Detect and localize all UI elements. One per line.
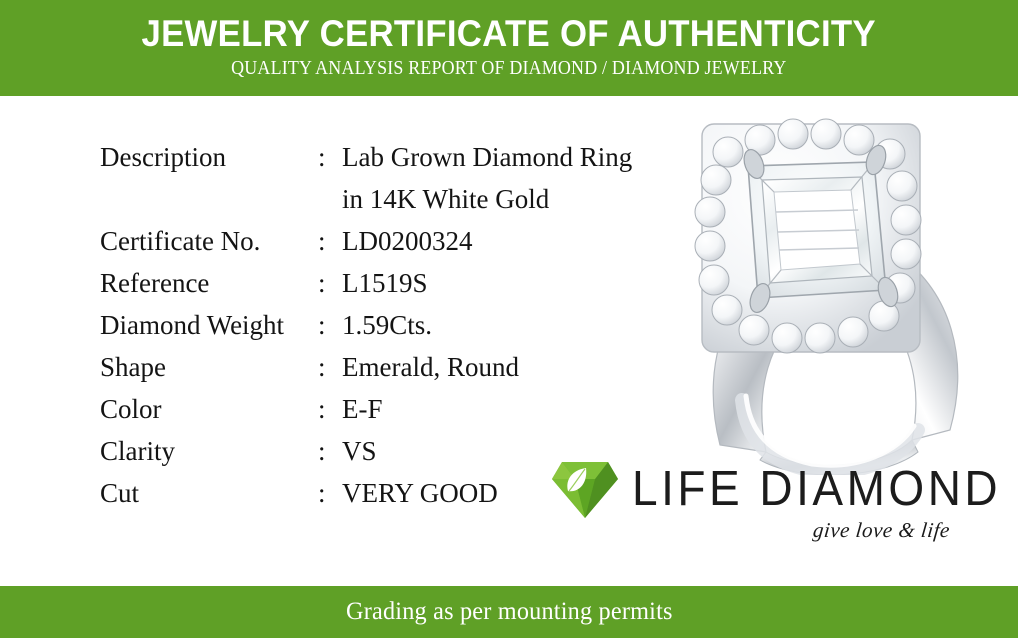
footer-note: Grading as per mounting permits (346, 597, 673, 627)
brand-logo: LIFE DIAMOND give love & life (552, 456, 972, 566)
spec-value-certificate-no: LD0200324 (342, 220, 660, 262)
spec-value-reference: L1519S (342, 262, 660, 304)
diamond-ring-photo (650, 100, 1010, 475)
jewelry-certificate: JEWELRY CERTIFICATE OF AUTHENTICITY QUAL… (0, 0, 1018, 638)
spec-value-shape: Emerald, Round (342, 346, 660, 388)
certificate-body: Description : Lab Grown Diamond Ring in … (0, 96, 1018, 586)
spec-colon: : (318, 304, 342, 346)
table-row: Color : E-F (100, 388, 660, 430)
certificate-title: JEWELRY CERTIFICATE OF AUTHENTICITY (142, 14, 876, 54)
spec-label-diamond-weight: Diamond Weight (100, 304, 318, 346)
logo-tagline: give love & life (551, 518, 974, 542)
table-row: Reference : L1519S (100, 262, 660, 304)
table-row: Diamond Weight : 1.59Cts. (100, 304, 660, 346)
spec-colon: : (318, 136, 342, 178)
spec-colon: : (318, 262, 342, 304)
logo-wordmark: LIFE DIAMOND (632, 462, 1001, 515)
spec-colon: : (318, 472, 342, 514)
spec-colon: : (318, 346, 342, 388)
certificate-subtitle: QUALITY ANALYSIS REPORT OF DIAMOND / DIA… (231, 57, 786, 81)
certificate-header: JEWELRY CERTIFICATE OF AUTHENTICITY QUAL… (0, 0, 1018, 96)
diamond-gem-icon (552, 458, 618, 520)
spec-label-reference: Reference (100, 262, 318, 304)
spec-label-cut: Cut (100, 472, 318, 514)
spec-value-description-line2: in 14K White Gold (342, 178, 660, 220)
spec-value-description: Lab Grown Diamond Ring (342, 136, 660, 178)
spec-colon: : (318, 430, 342, 472)
table-row: Shape : Emerald, Round (100, 346, 660, 388)
table-row: Certificate No. : LD0200324 (100, 220, 660, 262)
spec-label-clarity: Clarity (100, 430, 318, 472)
spec-label-certificate-no: Certificate No. (100, 220, 318, 262)
spec-label-color: Color (100, 388, 318, 430)
spec-value-color: E-F (342, 388, 660, 430)
spec-colon: : (318, 220, 342, 262)
spec-colon: : (318, 388, 342, 430)
logo-row: LIFE DIAMOND (552, 456, 972, 520)
certificate-footer: Grading as per mounting permits (0, 586, 1018, 638)
spec-label-description: Description (100, 136, 318, 178)
spec-label-shape: Shape (100, 346, 318, 388)
table-row: Description : Lab Grown Diamond Ring (100, 136, 660, 178)
spec-value-diamond-weight: 1.59Cts. (342, 304, 660, 346)
